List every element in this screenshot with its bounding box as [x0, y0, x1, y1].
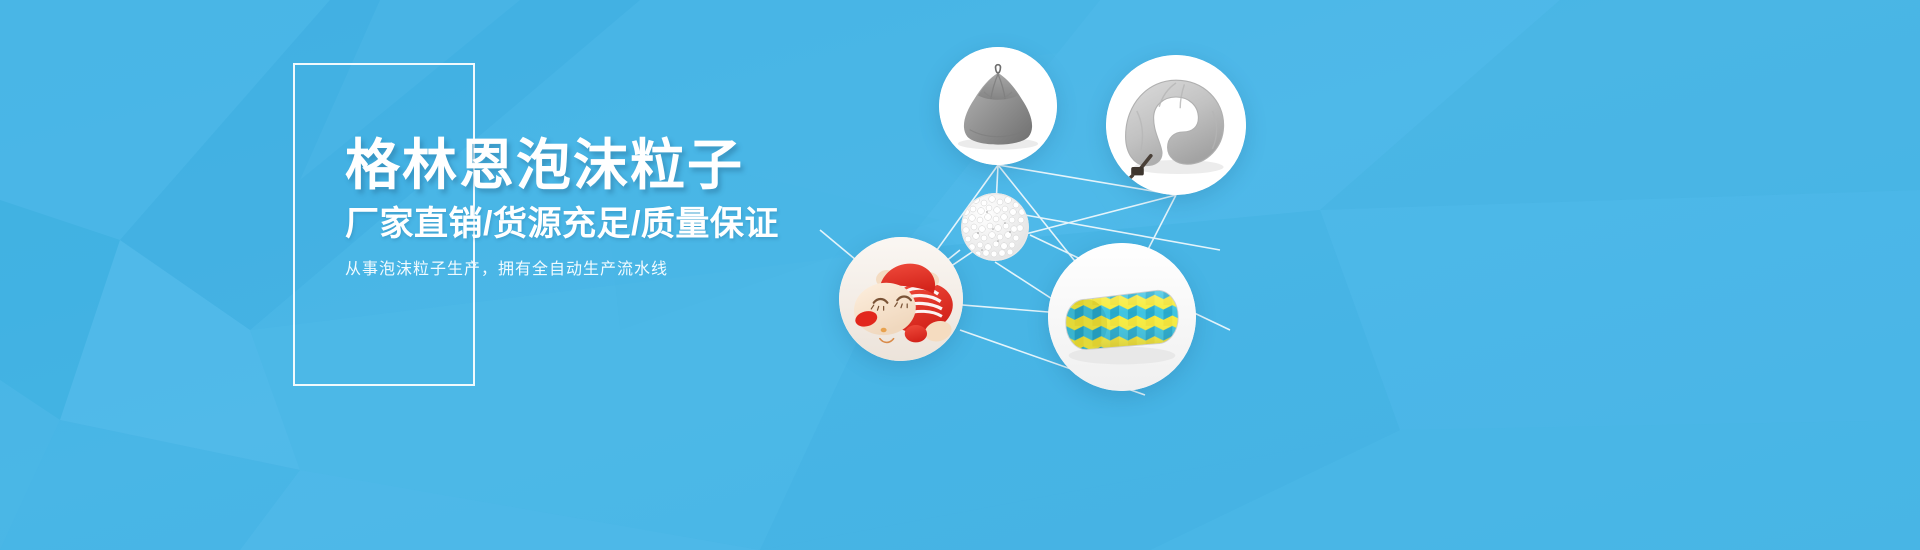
- cube-pattern-bolster-icon: [1048, 243, 1196, 391]
- banner-subheadline: 厂家直销/货源充足/质量保证: [345, 205, 765, 244]
- bean-bag-chair-icon: [939, 47, 1057, 165]
- product-node-plush-animal-pillow[interactable]: [839, 237, 963, 361]
- product-node-u-shape-neck-pillow[interactable]: [1106, 55, 1246, 195]
- banner-headline: 格林恩泡沫粒子: [345, 136, 765, 195]
- u-shape-neck-pillow-photo: [1106, 55, 1246, 195]
- promo-banner: 格林恩泡沫粒子 厂家直销/货源充足/质量保证 从事泡沫粒子生产，拥有全自动生产流…: [0, 0, 1920, 550]
- product-constellation: [800, 0, 1920, 550]
- plush-animal-pillow-photo: [839, 237, 963, 361]
- u-shape-neck-pillow-icon: [1106, 55, 1246, 195]
- plush-animal-pillow-icon: [839, 237, 963, 361]
- product-node-cube-pattern-bolster[interactable]: [1048, 243, 1196, 391]
- eps-foam-beads-icon: [960, 192, 1030, 262]
- product-node-eps-foam-beads[interactable]: [960, 192, 1030, 262]
- product-node-bean-bag-chair[interactable]: [939, 47, 1057, 165]
- banner-tagline: 从事泡沫粒子生产，拥有全自动生产流水线: [345, 260, 765, 281]
- bean-bag-chair-photo: [939, 47, 1057, 165]
- cube-pattern-bolster-photo: [1048, 243, 1196, 391]
- banner-text-block: 格林恩泡沫粒子 厂家直销/货源充足/质量保证 从事泡沫粒子生产，拥有全自动生产流…: [345, 136, 765, 281]
